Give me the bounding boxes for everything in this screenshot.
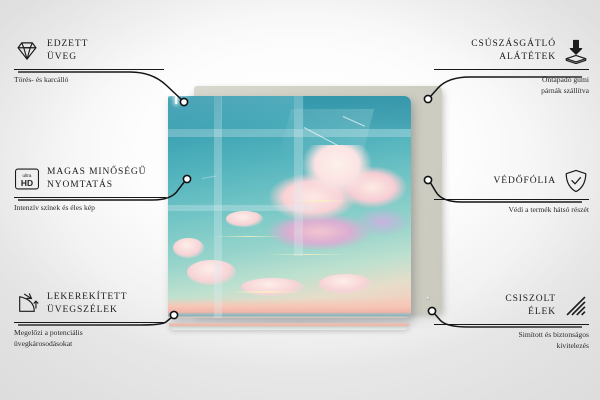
divider (434, 69, 589, 70)
sparkle-icon (165, 82, 187, 104)
feature-title: MAGAS MINŐSÉGŰ NYOMTATÁS (47, 166, 146, 192)
cloud (187, 260, 236, 284)
corner-radius-icon (14, 291, 40, 317)
feature-rounded-glass-edges: LEKEREKÍTETT ÜVEGSZÉLEK Megelőzi a poten… (14, 291, 169, 349)
product-image (168, 86, 442, 324)
feature-subtitle: Törés- és karcálló (14, 74, 169, 85)
anti-slip-pad (426, 96, 430, 100)
feature-title: CSISZOLT ÉLEK (505, 293, 556, 319)
feature-protective-film: VÉDŐFÓLIA Védi a termék hátsó részét (431, 168, 589, 215)
svg-text:HD: HD (21, 178, 33, 188)
feature-subtitle: Védi a termék hátsó részét (431, 204, 589, 215)
feature-subtitle: Simított és biztonságos kivitelezés (431, 329, 589, 351)
main-cloud-formation (246, 145, 411, 269)
hatched-triangle-icon (563, 293, 589, 319)
shield-check-icon (563, 168, 589, 194)
feature-title: CSÚSZÁSGÁTLÓ ALÁTÉTEK (471, 38, 556, 64)
divider (434, 324, 589, 325)
divider (14, 197, 166, 198)
anti-slip-pad (426, 296, 430, 300)
cloud (241, 278, 304, 296)
divider (14, 322, 166, 323)
diamond-icon (14, 38, 40, 64)
cloud (319, 274, 372, 294)
feature-title: VÉDŐFÓLIA (494, 175, 556, 188)
feature-title: LEKEREKÍTETT ÜVEGSZÉLEK (47, 291, 127, 317)
glass-bottom-edge (169, 323, 409, 330)
feature-subtitle: Intenzív színek és éles kép (14, 202, 169, 213)
divider (14, 69, 164, 70)
press-down-pad-icon (563, 38, 589, 64)
feature-subtitle: Öntapadó gumi párnák szállítva (431, 74, 589, 96)
feature-title: EDZETT ÜVEG (47, 38, 88, 64)
divider (434, 199, 589, 200)
feature-tempered-glass: EDZETT ÜVEG Törés- és karcálló (14, 38, 169, 85)
cloud (226, 211, 262, 227)
feature-high-quality-print: ultra HD MAGAS MINŐSÉGŰ NYOMTATÁS Intenz… (14, 166, 169, 213)
light-streak (231, 291, 299, 293)
feature-polished-edges: CSISZOLT ÉLEK Simított és biztonságos ki… (431, 293, 589, 351)
glass-panel-artwork (168, 96, 411, 318)
feature-anti-slip-pads: CSÚSZÁSGÁTLÓ ALÁTÉTEK Öntapadó gumi párn… (431, 38, 589, 96)
feature-subtitle: Megelőzi a potenciális üvegkárosodásokat (14, 327, 169, 349)
light-streak (294, 200, 347, 202)
light-streak (265, 254, 348, 256)
ultra-hd-badge-icon: ultra HD (14, 166, 40, 192)
